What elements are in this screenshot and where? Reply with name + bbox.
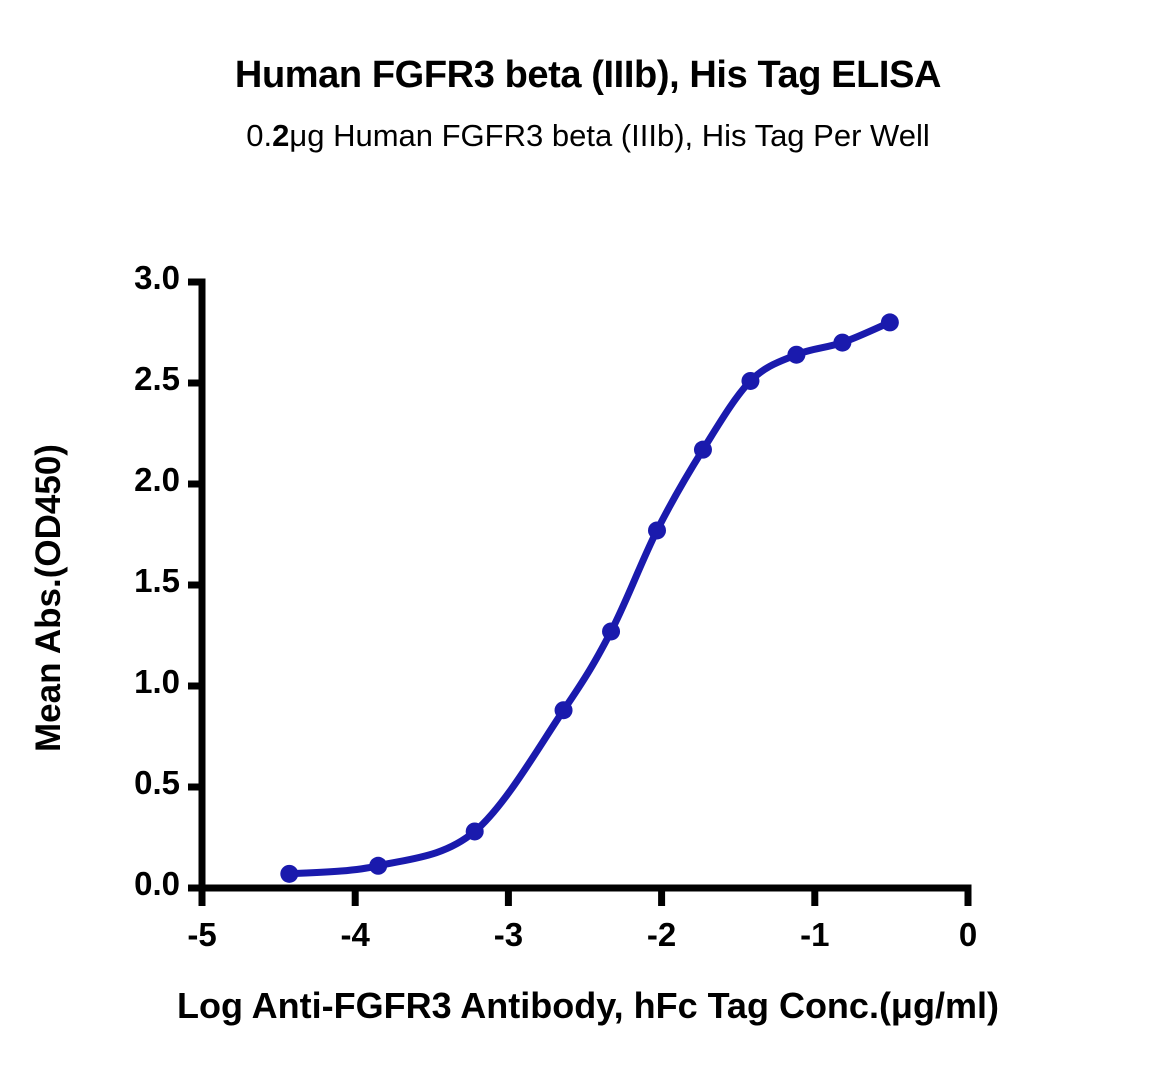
y-tick-label: 0.0 bbox=[90, 865, 180, 903]
x-tick-label: -4 bbox=[325, 916, 385, 954]
data-point-marker[interactable] bbox=[833, 334, 851, 352]
data-point-marker[interactable] bbox=[694, 441, 712, 459]
data-point-marker[interactable] bbox=[648, 521, 666, 539]
data-point-marker[interactable] bbox=[369, 857, 387, 875]
data-point-marker[interactable] bbox=[787, 346, 805, 364]
y-tick-label: 3.0 bbox=[90, 259, 180, 297]
y-tick-label: 2.0 bbox=[90, 461, 180, 499]
x-tick-label: -3 bbox=[478, 916, 538, 954]
chart-figure: Human FGFR3 beta (IIIb), His Tag ELISA 0… bbox=[0, 0, 1176, 1087]
y-tick-label: 1.0 bbox=[90, 663, 180, 701]
data-point-marker[interactable] bbox=[741, 372, 759, 390]
y-tick-label: 2.5 bbox=[90, 360, 180, 398]
series-line bbox=[289, 322, 890, 873]
y-tick-label: 1.5 bbox=[90, 562, 180, 600]
x-tick-label: -2 bbox=[632, 916, 692, 954]
data-point-marker[interactable] bbox=[280, 865, 298, 883]
data-point-marker[interactable] bbox=[555, 701, 573, 719]
data-point-marker[interactable] bbox=[466, 822, 484, 840]
y-tick-label: 0.5 bbox=[90, 764, 180, 802]
x-tick-label: 0 bbox=[938, 916, 998, 954]
data-point-marker[interactable] bbox=[881, 313, 899, 331]
x-tick-label: -5 bbox=[172, 916, 232, 954]
x-tick-label: -1 bbox=[785, 916, 845, 954]
data-point-marker[interactable] bbox=[602, 622, 620, 640]
